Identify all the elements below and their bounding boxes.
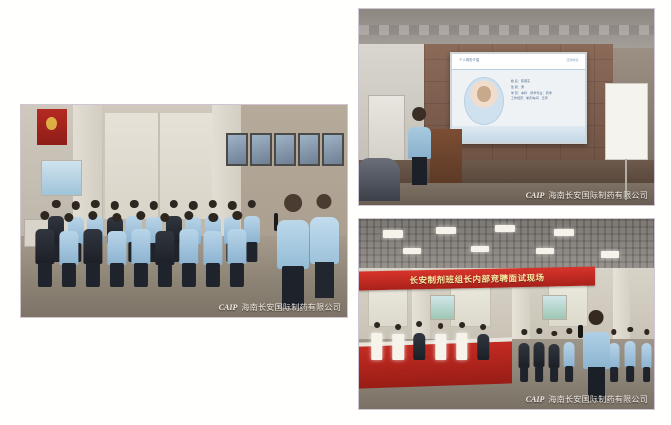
audience-person	[548, 331, 560, 383]
judge-person	[371, 322, 384, 360]
classroom-training-photo[interactable]: CAIP海南长安国际制药有限公司	[20, 104, 348, 318]
candidate-head	[589, 310, 604, 325]
seated-row-front	[34, 203, 301, 288]
candidate-with-microphone	[580, 310, 612, 401]
judges-row	[365, 318, 507, 360]
watermark-brand: CAIP	[526, 395, 545, 404]
judge-person	[392, 324, 405, 360]
slide-footer-band	[452, 126, 585, 142]
seated-person	[58, 213, 79, 288]
slide-portrait-photo	[464, 77, 503, 125]
speaker-torso	[277, 220, 309, 269]
audience-person	[518, 329, 530, 382]
photo-collage-page: CAIP海南长安国际制药有限公司 个人简历介绍 应聘岗位 姓 名：陈晓东 性 别…	[0, 0, 671, 425]
event-banner-text: 长安制剂班组长内部竞聘面试现场	[409, 271, 544, 286]
watermark-brand: CAIP	[219, 303, 238, 312]
judge-person	[434, 323, 447, 360]
ceiling-light	[601, 251, 619, 258]
audience-person	[563, 328, 575, 382]
slide-field-list: 姓 名：陈晓东 性 别：男 学 历：本科 所学专业：药学 工作经历：制剂车间 五…	[511, 79, 577, 103]
watermark-classroom: CAIP海南长安国际制药有限公司	[219, 302, 341, 313]
speaker-with-microphone	[272, 194, 314, 311]
seated-person	[34, 211, 55, 287]
ceiling-light	[436, 227, 457, 235]
audience-person	[533, 328, 545, 382]
seated-person	[130, 211, 151, 287]
speaker-head	[284, 194, 302, 212]
ceiling-light	[383, 230, 404, 238]
assistant-legs	[315, 262, 334, 298]
wall-frame	[226, 133, 248, 167]
red-wall-banner	[37, 109, 66, 145]
wall-poster	[430, 295, 456, 320]
presentation-stage-photo[interactable]: 个人简历介绍 应聘岗位 姓 名：陈晓东 性 别：男 学 历：本科 所学专业：药学…	[358, 8, 655, 206]
ceiling-light	[495, 225, 516, 233]
wall-photo-frames	[226, 133, 343, 167]
classroom-scene	[21, 105, 347, 317]
seated-person	[154, 213, 175, 288]
candidate-torso	[583, 332, 610, 368]
watermark-brand: CAIP	[526, 191, 545, 200]
wall-frame	[274, 133, 296, 167]
assistant-head	[317, 194, 332, 209]
wall-frame	[322, 133, 344, 167]
ceiling-light	[471, 246, 489, 253]
judge-person	[477, 324, 490, 360]
seated-person	[178, 211, 199, 287]
seated-person	[106, 213, 127, 288]
presenter-legs	[412, 157, 427, 185]
wall-frame	[250, 133, 272, 167]
seated-person	[226, 211, 247, 287]
podium	[430, 129, 462, 184]
projection-screen: 个人简历介绍 应聘岗位 姓 名：陈晓东 性 别：男 学 历：本科 所学专业：药学…	[450, 52, 587, 144]
wall-frame	[298, 133, 320, 167]
ceiling-light	[403, 248, 421, 255]
interview-scene: 长安制剂班组长内部竞聘面试现场	[359, 219, 654, 409]
slide-title: 个人简历介绍	[459, 57, 479, 62]
flipchart-board	[605, 83, 648, 159]
ceiling-light	[554, 229, 575, 237]
audience-person	[624, 327, 636, 383]
stage-platform	[359, 160, 654, 185]
watermark-presentation: CAIP海南长安国际制药有限公司	[526, 190, 648, 201]
presenter	[406, 107, 433, 185]
audience-person	[640, 329, 652, 382]
watermark-company: 海南长安国际制药有限公司	[548, 395, 648, 404]
seated-person	[82, 211, 103, 287]
judge-person	[413, 321, 426, 359]
watermark-interview: CAIP海南长安国际制药有限公司	[526, 394, 648, 405]
watermark-company: 海南长安国际制药有限公司	[241, 303, 341, 312]
presentation-scene: 个人简历介绍 应聘岗位 姓 名：陈晓东 性 别：男 学 历：本科 所学专业：药学…	[359, 9, 654, 205]
presenter-torso	[408, 127, 430, 158]
slide-field: 工作经历：制剂车间 五年	[511, 96, 577, 102]
ceiling-light	[536, 248, 554, 255]
presenter-head	[413, 107, 427, 121]
judge-person	[456, 322, 469, 360]
foreground-audience	[359, 158, 400, 201]
slide-tag: 应聘岗位	[567, 58, 579, 62]
seated-person	[202, 213, 223, 288]
interview-scene-photo[interactable]: 长安制剂班组长内部竞聘面试现场	[358, 218, 655, 410]
watermark-company: 海南长安国际制药有限公司	[548, 191, 648, 200]
wall-poster	[542, 295, 568, 320]
